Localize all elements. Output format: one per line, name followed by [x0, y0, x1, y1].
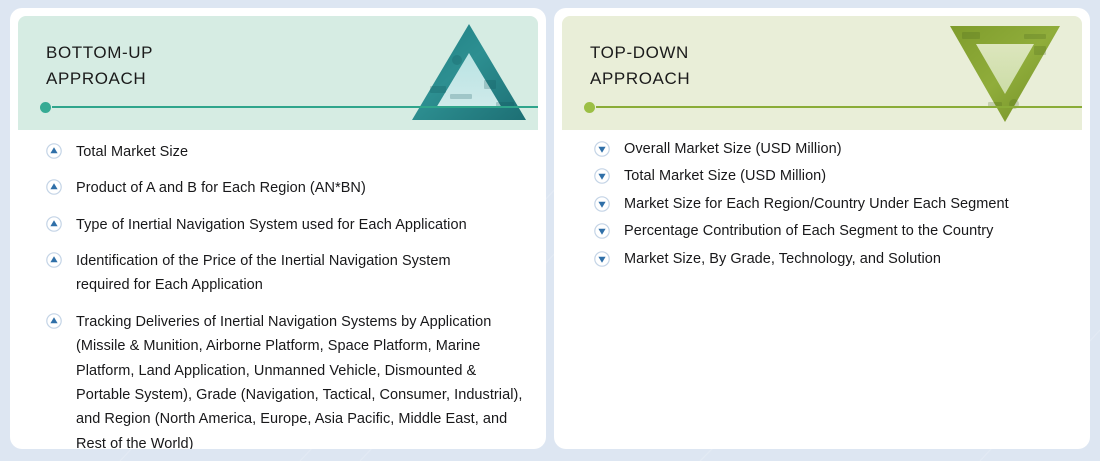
accent-dot — [40, 102, 51, 113]
accent-line — [596, 106, 1082, 108]
panel-title-top-down: TOP-DOWN APPROACH — [590, 40, 690, 93]
list-item-text: Percentage Contribution of Each Segment … — [624, 220, 993, 242]
diagram-root: BOTTOM-UP APPROACH — [0, 0, 1100, 461]
panel-header-top-down: TOP-DOWN APPROACH — [562, 16, 1082, 130]
list-item: Total Market Size — [46, 140, 528, 164]
triangle-down-icon — [946, 20, 1064, 126]
bullet-list-top-down: Overall Market Size (USD Million) Total … — [594, 138, 1072, 275]
caret-down-circle-icon — [594, 223, 610, 239]
caret-up-circle-icon — [46, 179, 62, 195]
list-item-text: Overall Market Size (USD Million) — [624, 138, 842, 160]
bullet-list-bottom-up: Total Market Size Product of A and B for… — [46, 140, 528, 449]
caret-up-circle-icon — [46, 313, 62, 329]
list-item-text: Market Size, By Grade, Technology, and S… — [624, 248, 941, 270]
caret-up-circle-icon — [46, 216, 62, 232]
list-item-text: Product of A and B for Each Region (AN*B… — [76, 176, 366, 200]
list-item-text: Market Size for Each Region/Country Unde… — [624, 193, 1009, 215]
caret-down-circle-icon — [594, 196, 610, 212]
triangle-up-icon — [410, 20, 528, 126]
caret-down-circle-icon — [594, 251, 610, 267]
caret-up-circle-icon — [46, 143, 62, 159]
caret-down-circle-icon — [594, 168, 610, 184]
list-item: Market Size for Each Region/Country Unde… — [594, 193, 1072, 215]
header-accent-rule — [40, 106, 538, 108]
list-item: Total Market Size (USD Million) — [594, 165, 1072, 187]
panel-title-bottom-up: BOTTOM-UP APPROACH — [46, 40, 153, 93]
panel-container: BOTTOM-UP APPROACH — [0, 0, 1100, 461]
list-item: Market Size, By Grade, Technology, and S… — [594, 248, 1072, 270]
list-item: Overall Market Size (USD Million) — [594, 138, 1072, 160]
panel-top-down: TOP-DOWN APPROACH O — [554, 8, 1090, 449]
list-item-text: Type of Inertial Navigation System used … — [76, 213, 467, 237]
list-item: Product of A and B for Each Region (AN*B… — [46, 176, 528, 200]
list-item-text: Identification of the Price of the Inert… — [76, 249, 491, 298]
list-item-text: Tracking Deliveries of Inertial Navigati… — [76, 310, 526, 449]
list-item-text: Total Market Size (USD Million) — [624, 165, 826, 187]
accent-dot — [584, 102, 595, 113]
header-accent-rule — [584, 106, 1082, 108]
list-item: Type of Inertial Navigation System used … — [46, 213, 528, 237]
caret-down-circle-icon — [594, 141, 610, 157]
list-item: Percentage Contribution of Each Segment … — [594, 220, 1072, 242]
caret-up-circle-icon — [46, 252, 62, 268]
list-item-text: Total Market Size — [76, 140, 188, 164]
list-item: Tracking Deliveries of Inertial Navigati… — [46, 310, 528, 449]
panel-header-bottom-up: BOTTOM-UP APPROACH — [18, 16, 538, 130]
list-item: Identification of the Price of the Inert… — [46, 249, 528, 298]
panel-bottom-up: BOTTOM-UP APPROACH — [10, 8, 546, 449]
accent-line — [52, 106, 538, 108]
